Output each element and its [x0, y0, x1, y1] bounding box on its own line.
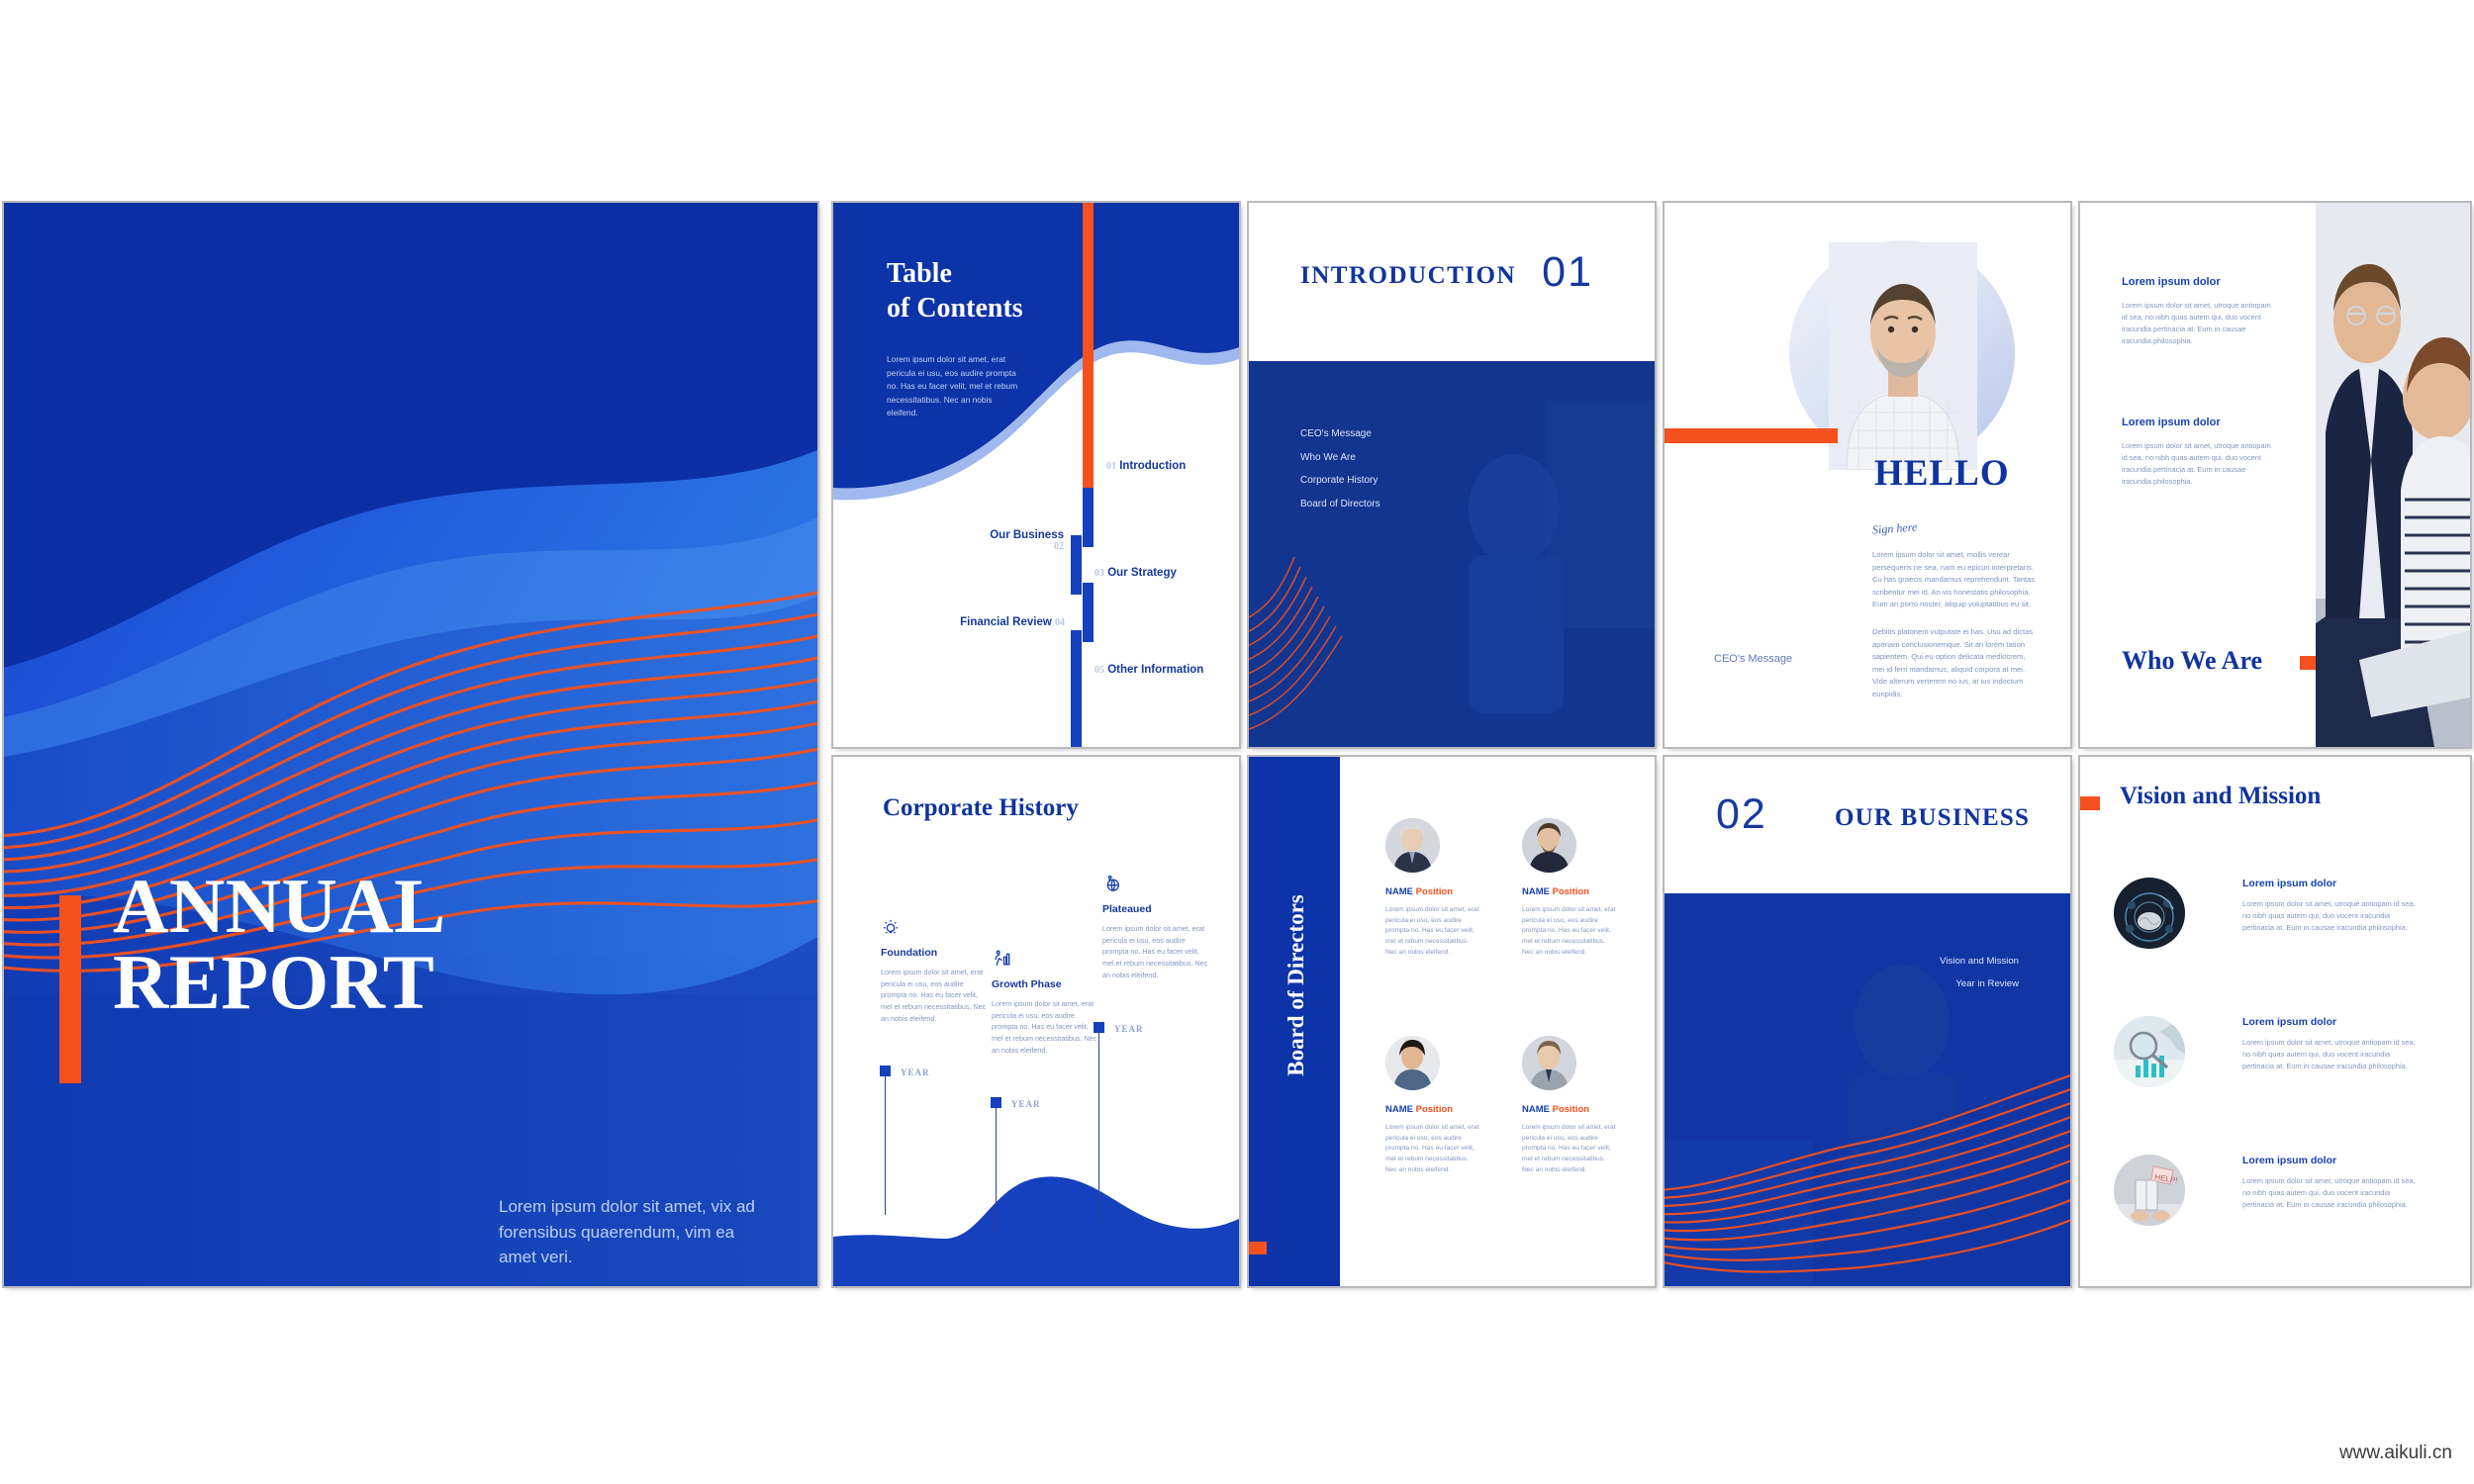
who-block-heading: Lorem ipsum dolor	[2122, 276, 2221, 288]
board-member-photo	[1385, 818, 1440, 873]
toc-item-number: 05	[1094, 665, 1104, 676]
vision-row-heading: Lorem ipsum dolor	[2242, 878, 2421, 889]
history-milestone-heading: Plateaued	[1102, 903, 1211, 915]
ceo-accent-bar	[1665, 428, 1838, 443]
toc-step-4	[1083, 583, 1094, 642]
slide-vision-and-mission[interactable]: Vision and Mission Lorem ipsum dolor Lor…	[2080, 757, 2470, 1286]
who-team-photo	[2316, 203, 2470, 747]
history-milestone[interactable]: Foundation Lorem ipsum dolor sit amet, e…	[881, 917, 990, 1024]
history-marker	[1094, 1022, 1104, 1033]
toc-item-our-business[interactable]: Our Business 02	[947, 529, 1064, 552]
help-sign-illustration: HELP!	[2114, 1155, 2185, 1226]
board-member-position: Position	[1553, 1104, 1589, 1115]
toc-item-introduction[interactable]: 01 Introduction	[1106, 460, 1186, 472]
board-member-position: Position	[1553, 886, 1589, 897]
history-year: YEAR	[901, 1067, 930, 1077]
business-topic[interactable]: Vision and Mission	[1940, 951, 2019, 974]
vision-accent-square	[2080, 796, 2100, 810]
board-member[interactable]: NAME Position Lorem ipsum dolor sit amet…	[1522, 818, 1618, 958]
board-member-bio: Lorem ipsum dolor sit amet, erat pericul…	[1385, 905, 1481, 958]
vision-row-text: Lorem ipsum dolor sit amet, utroque anti…	[2242, 1037, 2421, 1072]
toc-item-financial-review[interactable]: Financial Review 04	[936, 616, 1065, 628]
slide-our-business-divider[interactable]: 02 OUR BUSINESS	[1665, 757, 2070, 1286]
history-stem	[996, 1103, 997, 1234]
ceo-hello-heading: HELLO	[1874, 452, 2010, 495]
business-topic-list: Vision and Mission Year in Review	[1940, 951, 2019, 995]
watermark: www.aikuli.cn	[2339, 1442, 2452, 1464]
toc-item-number: 02	[947, 541, 1064, 552]
cover-wave-graphic	[4, 203, 817, 1286]
avatar	[1522, 1036, 1576, 1090]
who-team-illustration	[2316, 203, 2470, 747]
board-member-position: Position	[1416, 1104, 1453, 1115]
vision-row[interactable]: Lorem ipsum dolor Lorem ipsum dolor sit …	[2114, 1016, 2436, 1087]
introduction-topic[interactable]: Corporate History	[1300, 469, 1380, 493]
introduction-topic[interactable]: CEO's Message	[1300, 422, 1380, 446]
avatar	[1385, 818, 1440, 873]
vision-text-block: Lorem ipsum dolor Lorem ipsum dolor sit …	[2242, 878, 2421, 934]
cover-title-line1: ANNUAL	[113, 868, 446, 944]
vision-and-mission-title: Vision and Mission	[2120, 783, 2321, 810]
business-section-number: 02	[1716, 790, 1767, 839]
toc-item-label: Introduction	[1119, 460, 1186, 472]
introduction-topic[interactable]: Board of Directors	[1300, 493, 1380, 516]
business-topic[interactable]: Year in Review	[1940, 974, 2019, 996]
history-marker	[880, 1066, 891, 1076]
avatar	[1522, 818, 1576, 873]
history-stem	[1098, 1028, 1099, 1222]
board-member-name: NAME	[1385, 1104, 1413, 1115]
slide-who-we-are[interactable]: Lorem ipsum dolor Lorem ipsum dolor sit …	[2080, 203, 2470, 747]
history-year: YEAR	[1114, 1024, 1144, 1034]
toc-step-3	[1071, 535, 1082, 595]
introduction-heading: INTRODUCTION	[1300, 262, 1516, 290]
board-member-name: NAME	[1522, 1104, 1550, 1115]
who-we-are-title: Who We Are	[2122, 646, 2262, 676]
history-stem	[885, 1071, 886, 1215]
who-block-heading: Lorem ipsum dolor	[2122, 417, 2221, 428]
board-member-name-line: NAME Position	[1385, 886, 1481, 897]
ceo-signature-label: Sign here	[1872, 519, 1918, 537]
history-milestone[interactable]: Growth Phase Lorem ipsum dolor sit amet,…	[992, 949, 1100, 1056]
board-member[interactable]: NAME Position Lorem ipsum dolor sit amet…	[1522, 1036, 1618, 1175]
board-member-photo	[1522, 1036, 1576, 1090]
vision-row[interactable]: HELP! Lorem ipsum dolor Lorem ipsum dolo…	[2114, 1155, 2436, 1226]
board-member-name-line: NAME Position	[1522, 1104, 1618, 1115]
slide-table-of-contents[interactable]: Table of Contents Lorem ipsum dolor sit …	[833, 203, 1239, 747]
board-accent-square	[1249, 1242, 1267, 1254]
board-member-photo	[1385, 1036, 1440, 1090]
history-milestone-text: Lorem ipsum dolor sit amet, erat pericul…	[881, 967, 990, 1024]
ceo-portrait-photo	[1829, 242, 1977, 470]
board-member-name: NAME	[1385, 886, 1413, 897]
toc-item-our-strategy[interactable]: 03 Our Strategy	[1094, 567, 1177, 579]
help-sign-photo: HELP!	[2114, 1155, 2185, 1226]
toc-item-number: 03	[1094, 568, 1104, 579]
vision-row[interactable]: Lorem ipsum dolor Lorem ipsum dolor sit …	[2114, 878, 2436, 949]
toc-item-label: Financial Review	[960, 616, 1052, 628]
toc-step-6	[1071, 678, 1082, 747]
ceo-portrait-illustration	[1829, 242, 1977, 470]
toc-item-number: 01	[1106, 461, 1116, 472]
cover-accent-bar	[59, 895, 81, 1083]
who-block-text: Lorem ipsum dolor sit amet, utroque anti…	[2122, 300, 2276, 347]
board-member-name-line: NAME Position	[1522, 886, 1618, 897]
board-member[interactable]: NAME Position Lorem ipsum dolor sit amet…	[1385, 1036, 1481, 1175]
growth-chart-icon	[992, 949, 1011, 969]
vision-row-text: Lorem ipsum dolor sit amet, utroque anti…	[2242, 898, 2421, 934]
business-heading: OUR BUSINESS	[1835, 804, 2030, 832]
globe-icon	[1102, 874, 1122, 893]
toc-step-2	[1083, 488, 1094, 547]
corporate-history-title: Corporate History	[883, 794, 1079, 822]
board-side-panel: Board of Directors	[1249, 757, 1340, 1286]
who-block-text: Lorem ipsum dolor sit amet, utroque anti…	[2122, 440, 2276, 488]
board-member-position: Position	[1416, 886, 1453, 897]
history-milestone-heading: Foundation	[881, 947, 990, 959]
history-wave-graphic	[833, 1088, 1239, 1286]
introduction-topic-list: CEO's Message Who We Are Corporate Histo…	[1300, 422, 1380, 515]
history-milestone[interactable]: Plateaued Lorem ipsum dolor sit amet, er…	[1102, 874, 1211, 980]
history-milestone-text: Lorem ipsum dolor sit amet, erat pericul…	[992, 998, 1100, 1056]
brain-tech-photo	[2114, 878, 2185, 949]
board-member-name-line: NAME Position	[1385, 1104, 1481, 1115]
ceo-paragraph-2: Debitis platonem vulputate ei has. Usu a…	[1872, 626, 2039, 701]
toc-list: 01 Introduction Our Business 02 03 Our S…	[833, 203, 1239, 747]
slide-board-of-directors[interactable]: Board of Directors NAME Position Lorem i…	[1249, 757, 1655, 1286]
ceo-slide-label: CEO's Message	[1714, 653, 1792, 665]
slide-cover[interactable]: ANNUAL REPORT Lorem ipsum dolor sit amet…	[4, 203, 817, 1286]
introduction-photo-panel	[1249, 361, 1655, 747]
toc-item-label: Our Strategy	[1107, 567, 1177, 579]
board-member-name: NAME	[1522, 886, 1550, 897]
magnifier-chart-illustration	[2114, 1016, 2185, 1087]
ceo-paragraph-1: Lorem ipsum dolor sit amet, mollis verea…	[1872, 549, 2039, 611]
board-member-photo	[1522, 818, 1576, 873]
toc-item-label: Our Business	[947, 529, 1064, 541]
toc-item-other-information[interactable]: 05 Other Information	[1094, 664, 1203, 676]
vision-text-block: Lorem ipsum dolor Lorem ipsum dolor sit …	[2242, 1016, 2421, 1072]
lightbulb-icon	[881, 917, 901, 937]
history-milestone-heading: Growth Phase	[992, 978, 1100, 990]
vision-row-heading: Lorem ipsum dolor	[2242, 1016, 2421, 1028]
introduction-topic[interactable]: Who We Are	[1300, 446, 1380, 470]
board-of-directors-title: Board of Directors	[1284, 867, 1309, 1104]
slide-deck-overview: ANNUAL REPORT Lorem ipsum dolor sit amet…	[0, 0, 2474, 1484]
cover-title-line2: REPORT	[113, 944, 446, 1020]
history-marker	[991, 1097, 1001, 1108]
toc-item-label: Other Information	[1107, 664, 1203, 676]
board-member-bio: Lorem ipsum dolor sit amet, erat pericul…	[1522, 1123, 1618, 1175]
vision-text-block: Lorem ipsum dolor Lorem ipsum dolor sit …	[2242, 1155, 2421, 1211]
vision-row-text: Lorem ipsum dolor sit amet, utroque anti…	[2242, 1175, 2421, 1211]
board-member-bio: Lorem ipsum dolor sit amet, erat pericul…	[1522, 905, 1618, 958]
slide-ceo-message[interactable]: HELLO Sign here Lorem ipsum dolor sit am…	[1665, 203, 2070, 747]
slide-corporate-history[interactable]: Corporate History Foundation Lorem ipsum…	[833, 757, 1239, 1286]
introduction-section-number: 01	[1542, 248, 1593, 297]
vision-row-heading: Lorem ipsum dolor	[2242, 1155, 2421, 1166]
introduction-photo-overlay	[1249, 361, 1655, 747]
board-member-bio: Lorem ipsum dolor sit amet, erat pericul…	[1385, 1123, 1481, 1175]
board-member[interactable]: NAME Position Lorem ipsum dolor sit amet…	[1385, 818, 1481, 958]
avatar	[1385, 1036, 1440, 1090]
history-milestone-text: Lorem ipsum dolor sit amet, erat pericul…	[1102, 923, 1211, 980]
cover-subtitle: Lorem ipsum dolor sit amet, vix ad foren…	[499, 1194, 776, 1270]
magnifier-chart-photo	[2114, 1016, 2185, 1087]
history-year: YEAR	[1011, 1099, 1041, 1109]
cover-title: ANNUAL REPORT	[113, 868, 446, 1020]
brain-tech-illustration	[2114, 878, 2185, 949]
toc-item-number: 04	[1055, 617, 1065, 628]
slide-introduction-divider[interactable]: INTRODUCTION 01	[1249, 203, 1655, 747]
